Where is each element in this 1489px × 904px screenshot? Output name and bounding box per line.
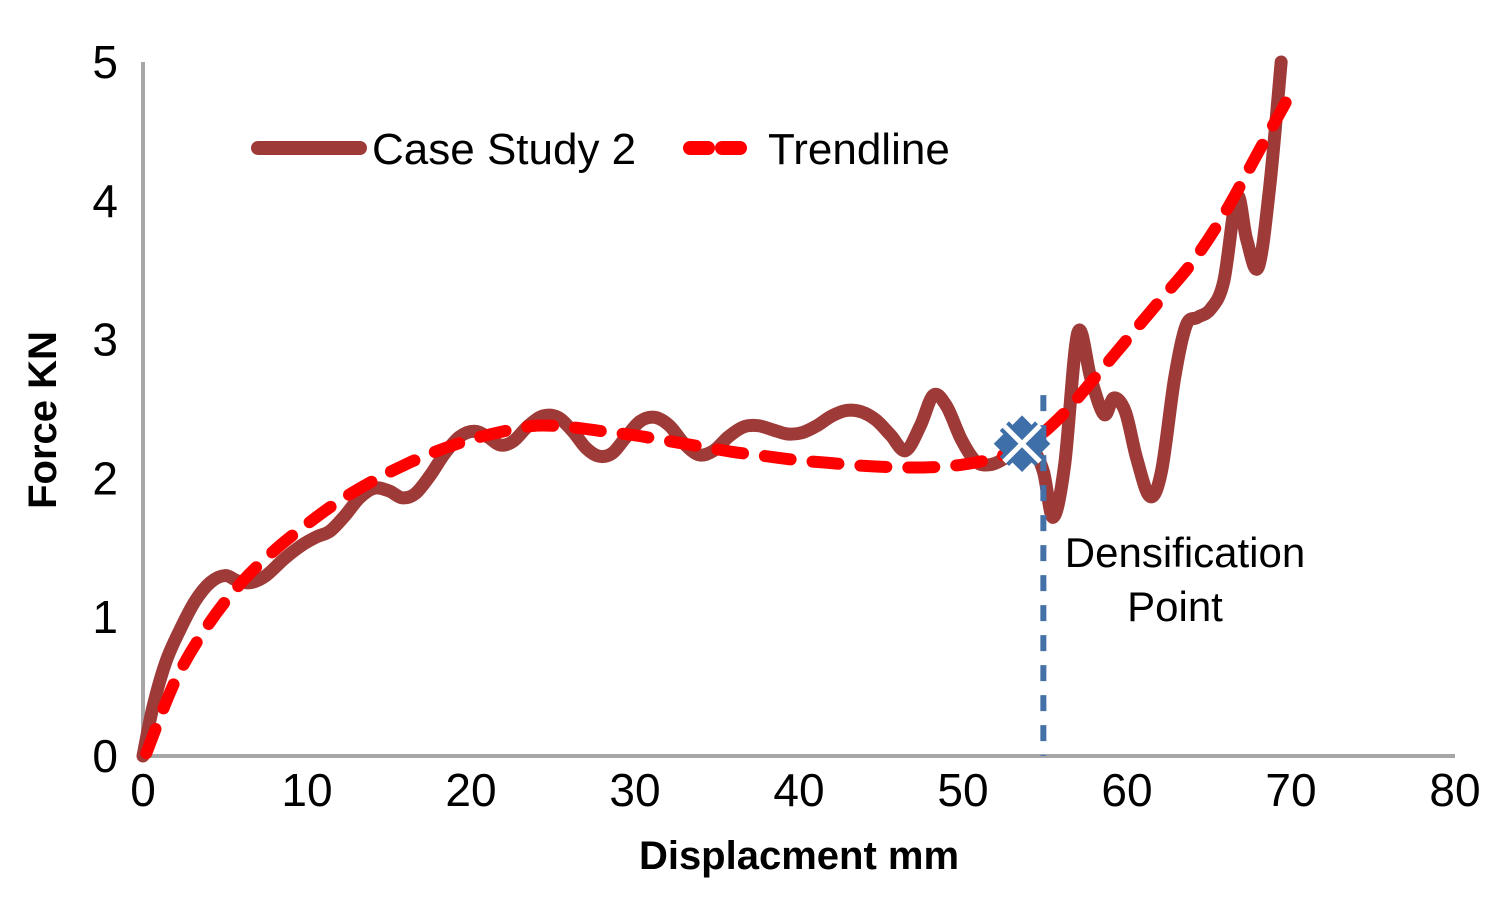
x-tick-label: 10 (281, 764, 332, 816)
x-axis-title: Displacment mm (639, 834, 959, 878)
y-tick-label: 4 (92, 175, 118, 227)
legend-label-case-study-2: Case Study 2 (372, 125, 636, 174)
y-tick-label: 2 (92, 452, 118, 504)
chart-page: 012345 01020304050607080 Densification P… (0, 0, 1489, 904)
densification-label-line2: Point (1127, 583, 1223, 630)
y-tick-label: 3 (92, 314, 118, 366)
x-tick-label: 80 (1429, 764, 1480, 816)
force-displacement-chart: 012345 01020304050607080 Densification P… (0, 0, 1489, 904)
x-tick-label: 30 (609, 764, 660, 816)
y-tick-label: 5 (92, 36, 118, 88)
x-tick-label: 70 (1265, 764, 1316, 816)
x-tick-label: 60 (1101, 764, 1152, 816)
x-tick-label: 0 (130, 764, 156, 816)
y-tick-label: 1 (92, 591, 118, 643)
x-tick-label: 40 (773, 764, 824, 816)
x-tick-label: 50 (937, 764, 988, 816)
densification-label-line1: Densification (1065, 529, 1305, 576)
y-axis-title: Force KN (21, 331, 65, 509)
y-tick-label: 0 (92, 730, 118, 782)
x-tick-label: 20 (445, 764, 496, 816)
legend-label-trendline: Trendline (768, 125, 950, 174)
